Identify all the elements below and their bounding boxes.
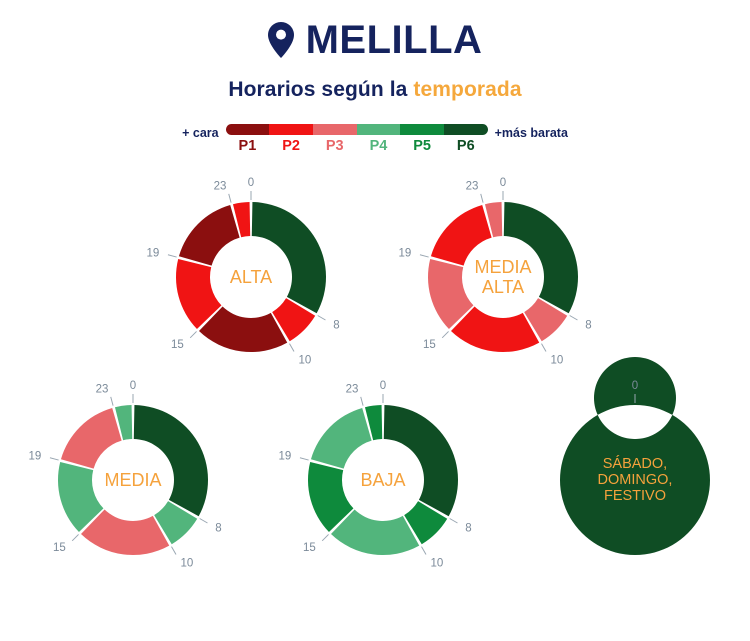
hour-tick-label: 19 bbox=[28, 450, 41, 462]
tick-leader-line bbox=[172, 547, 177, 555]
legend-label-p2: P2 bbox=[269, 138, 313, 154]
donut-ring: 0810151923MEDIA bbox=[50, 397, 216, 563]
legend-right-label: +más barata bbox=[495, 124, 568, 140]
hour-tick-label: 0 bbox=[632, 380, 638, 392]
donut-svg: 0810151923 bbox=[50, 397, 216, 563]
hour-tick-label: 15 bbox=[171, 339, 184, 351]
donut-chart-alta: 0810151923ALTA bbox=[140, 168, 362, 386]
donut-slice-p3 bbox=[61, 408, 122, 469]
tick-leader-line bbox=[229, 194, 231, 203]
donut-ring: 0810151923ALTA bbox=[168, 194, 334, 360]
hour-tick-label: 23 bbox=[346, 383, 359, 395]
donut-slice-p2 bbox=[431, 205, 492, 266]
page-subtitle: Horarios según la temporada bbox=[0, 78, 750, 102]
hour-tick-label: 8 bbox=[585, 320, 591, 332]
hour-tick-label: 19 bbox=[146, 247, 159, 259]
hour-tick-label: 8 bbox=[333, 320, 339, 332]
legend-swatch-p5 bbox=[400, 124, 444, 135]
tick-leader-line bbox=[442, 331, 448, 337]
donut-svg: 0 bbox=[552, 397, 718, 563]
donut-svg: 0810151923 bbox=[168, 194, 334, 360]
tick-leader-line bbox=[450, 519, 458, 524]
legend-label-p5: P5 bbox=[400, 138, 444, 154]
tick-leader-line bbox=[481, 194, 483, 203]
hour-tick-label: 10 bbox=[299, 354, 312, 366]
donut-ring: 0810151923MEDIA ALTA bbox=[420, 194, 586, 360]
legend-swatch-p2 bbox=[269, 124, 313, 135]
hour-tick-label: 15 bbox=[53, 542, 66, 554]
tick-leader-line bbox=[420, 255, 429, 257]
hour-tick-label: 0 bbox=[500, 177, 506, 189]
legend-swatch-p4 bbox=[357, 124, 401, 135]
tick-leader-line bbox=[168, 255, 177, 257]
donut-slice-p6 bbox=[504, 202, 578, 313]
hour-tick-label: 8 bbox=[215, 523, 221, 535]
tick-leader-line bbox=[190, 331, 196, 337]
legend-color-bar bbox=[226, 124, 488, 135]
tick-leader-line bbox=[72, 534, 78, 540]
hour-tick-label: 0 bbox=[130, 380, 136, 392]
donut-slice-p6 bbox=[134, 405, 208, 516]
legend-left-label: + cara bbox=[182, 124, 219, 140]
hour-tick-label: 8 bbox=[465, 523, 471, 535]
legend-swatch-p3 bbox=[313, 124, 357, 135]
subtitle-accent: temporada bbox=[413, 78, 521, 101]
hour-tick-label: 19 bbox=[398, 247, 411, 259]
tick-leader-line bbox=[50, 458, 59, 460]
tick-leader-line bbox=[570, 316, 578, 321]
donut-ring: 0SÁBADO, DOMINGO, FESTIVO bbox=[552, 397, 718, 563]
hour-tick-label: 15 bbox=[423, 339, 436, 351]
tariff-legend: + cara P1P2P3P4P5P6 +más barata bbox=[0, 124, 750, 154]
legend-label-row: P1P2P3P4P5P6 bbox=[226, 138, 488, 154]
hour-tick-label: 10 bbox=[551, 354, 564, 366]
tick-leader-line bbox=[290, 344, 295, 352]
tick-leader-line bbox=[111, 397, 113, 406]
hour-tick-label: 15 bbox=[303, 542, 316, 554]
tick-leader-line bbox=[200, 519, 208, 524]
donut-chart-grid: 0810151923ALTA0810151923MEDIA ALTA081015… bbox=[0, 168, 750, 608]
donut-slice-p6 bbox=[384, 405, 458, 516]
subtitle-prefix: Horarios según la bbox=[228, 78, 413, 101]
hour-tick-label: 23 bbox=[214, 180, 227, 192]
legend-scale: P1P2P3P4P5P6 bbox=[226, 124, 488, 154]
tick-leader-line bbox=[422, 547, 427, 555]
legend-label-p3: P3 bbox=[313, 138, 357, 154]
page-title: MELILLA bbox=[306, 20, 483, 60]
donut-svg: 0810151923 bbox=[420, 194, 586, 360]
donut-gap-notch bbox=[634, 405, 637, 439]
page-header: MELILLA Horarios según la temporada bbox=[0, 0, 750, 102]
donut-svg: 0810151923 bbox=[300, 397, 466, 563]
legend-swatch-p1 bbox=[226, 124, 270, 135]
donut-chart-s-bado-domingo-festivo: 0SÁBADO, DOMINGO, FESTIVO bbox=[524, 371, 746, 589]
tick-leader-line bbox=[322, 534, 328, 540]
hour-tick-label: 0 bbox=[380, 380, 386, 392]
legend-label-p6: P6 bbox=[444, 138, 488, 154]
tick-leader-line bbox=[361, 397, 363, 406]
donut-chart-baja: 0810151923BAJA bbox=[272, 371, 494, 589]
hour-tick-label: 10 bbox=[181, 557, 194, 569]
donut-chart-media-alta: 0810151923MEDIA ALTA bbox=[392, 168, 614, 386]
title-row: MELILLA bbox=[0, 14, 750, 66]
donut-slice-p6 bbox=[252, 202, 326, 313]
hour-tick-label: 0 bbox=[248, 177, 254, 189]
location-pin-icon bbox=[268, 22, 294, 58]
donut-ring: 0810151923BAJA bbox=[300, 397, 466, 563]
tick-leader-line bbox=[318, 316, 326, 321]
hour-tick-label: 10 bbox=[431, 557, 444, 569]
legend-label-p1: P1 bbox=[226, 138, 270, 154]
donut-slice-p1 bbox=[179, 205, 240, 266]
legend-label-p4: P4 bbox=[357, 138, 401, 154]
legend-swatch-p6 bbox=[444, 124, 488, 135]
hour-tick-label: 23 bbox=[96, 383, 109, 395]
tick-leader-line bbox=[542, 344, 547, 352]
donut-slice-p4 bbox=[311, 408, 372, 469]
hour-tick-label: 19 bbox=[278, 450, 291, 462]
tick-leader-line bbox=[300, 458, 309, 460]
donut-chart-media: 0810151923MEDIA bbox=[22, 371, 244, 589]
hour-tick-label: 23 bbox=[466, 180, 479, 192]
